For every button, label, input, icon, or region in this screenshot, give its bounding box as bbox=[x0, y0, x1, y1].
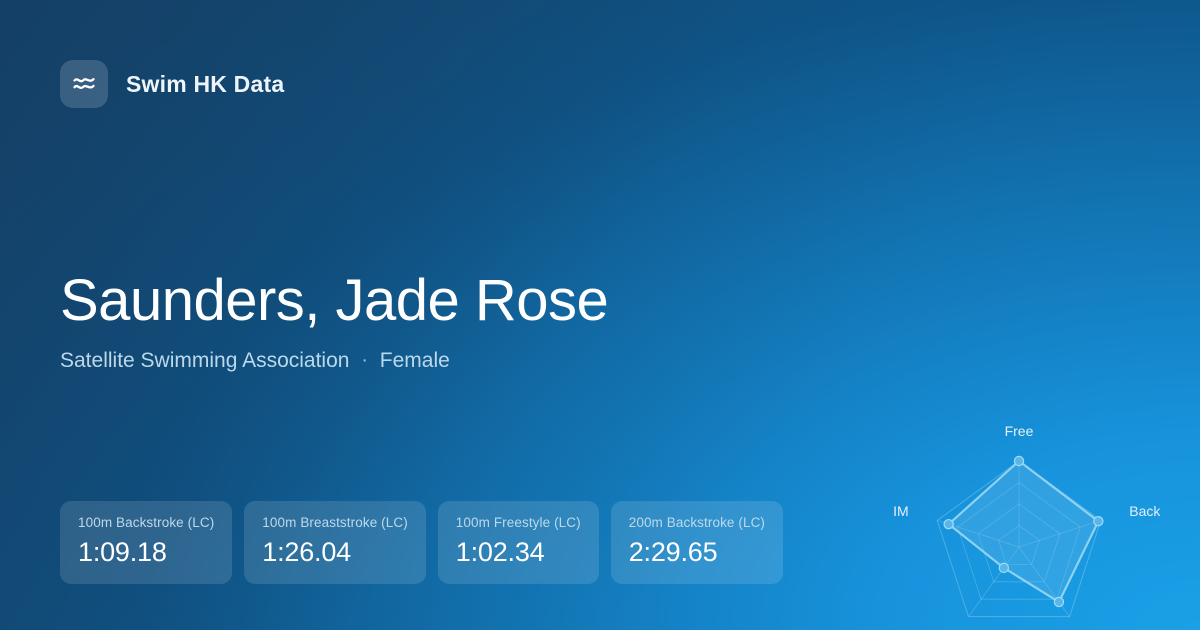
stat-card: 100m Breaststroke (LC) 1:26.04 bbox=[244, 501, 426, 584]
stat-card-label: 100m Backstroke (LC) bbox=[78, 515, 214, 530]
radar-axis-label: Back bbox=[1129, 504, 1161, 520]
brand-name: Swim HK Data bbox=[126, 71, 284, 98]
radar-data-point bbox=[999, 564, 1008, 573]
brand-lockup: Swim HK Data bbox=[60, 60, 1200, 108]
stat-card: 100m Backstroke (LC) 1:09.18 bbox=[60, 501, 232, 584]
stroke-strengths-radar-chart: FreeBackBreastFlyIM Stroke Strengths bbox=[869, 414, 1169, 630]
gender-label: Female bbox=[380, 349, 450, 373]
stat-card-value: 1:09.18 bbox=[78, 537, 214, 568]
radar-axis-label: Free bbox=[1005, 423, 1034, 439]
headline-block: Saunders, Jade Rose Satellite Swimming A… bbox=[60, 270, 1200, 373]
radar-data-point bbox=[1014, 457, 1023, 466]
stat-card-label: 200m Backstroke (LC) bbox=[629, 515, 765, 530]
radar-data-point bbox=[1094, 517, 1103, 526]
stat-card-label: 100m Breaststroke (LC) bbox=[262, 515, 408, 530]
stat-card-value: 1:02.34 bbox=[456, 537, 581, 568]
radar-data-point bbox=[944, 520, 953, 529]
club-name: Satellite Swimming Association bbox=[60, 349, 349, 373]
radar-series-area bbox=[949, 461, 1099, 602]
meta-separator: · bbox=[361, 350, 367, 372]
athlete-meta: Satellite Swimming Association · Female bbox=[60, 349, 1200, 373]
social-share-card: Swim HK Data Saunders, Jade Rose Satelli… bbox=[0, 0, 1200, 630]
stat-card: 200m Backstroke (LC) 2:29.65 bbox=[611, 501, 783, 584]
page-title: Saunders, Jade Rose bbox=[60, 270, 1200, 331]
radar-axis-label: IM bbox=[893, 504, 909, 520]
stat-card-value: 2:29.65 bbox=[629, 537, 765, 568]
wave-icon bbox=[60, 60, 108, 108]
radar-svg: FreeBackBreastFlyIM bbox=[869, 414, 1169, 630]
radar-data-point bbox=[1054, 598, 1063, 607]
stat-card-label: 100m Freestyle (LC) bbox=[456, 515, 581, 530]
stat-card: 100m Freestyle (LC) 1:02.34 bbox=[438, 501, 599, 584]
stat-card-value: 1:26.04 bbox=[262, 537, 408, 568]
